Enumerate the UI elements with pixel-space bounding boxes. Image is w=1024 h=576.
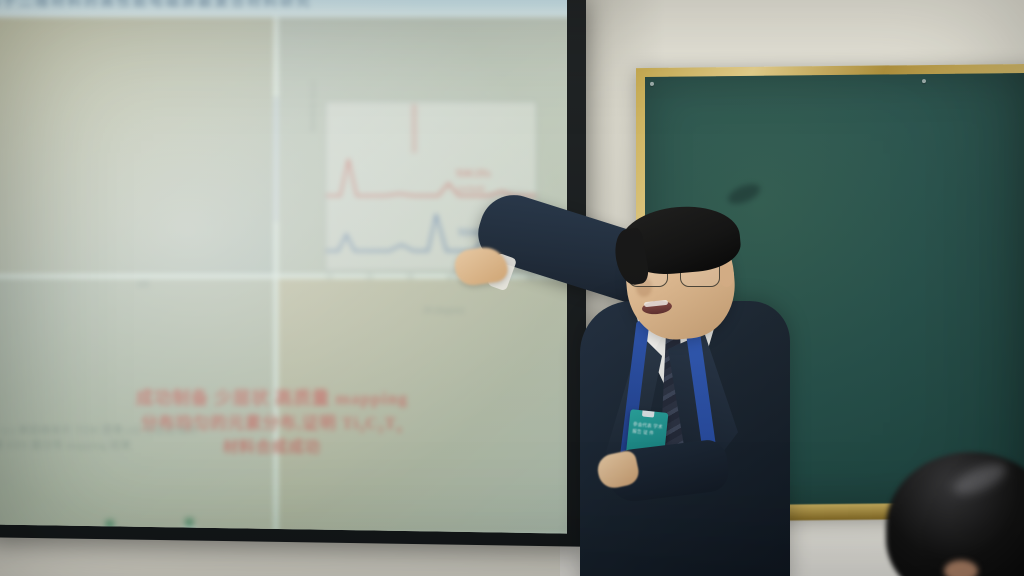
frame-screw — [922, 79, 926, 83]
xrd-xtick: 30 — [406, 272, 414, 284]
eds-map-tile — [0, 17, 273, 274]
formula-t: T — [385, 415, 397, 432]
eds-mapping-panel-d — [0, 17, 113, 143]
conclusion-line-2-text: 分布均匀的元素分布,证明 Ti — [141, 415, 359, 432]
xrd-y-axis-label: Intensity (a.u.) — [307, 81, 317, 132]
badge-text: 参会代表 学术报告 证 件 — [632, 421, 663, 438]
xrd-peak-marker — [412, 104, 417, 153]
xrd-legend-ti3c2tx: Ti3C2Tx — [456, 168, 491, 178]
presenter: 参会代表 学术报告 证 件 — [430, 215, 790, 576]
slide-title-text: 基于二维材料的高性能电磁屏蔽复合材料研究 — [0, 0, 313, 10]
xrd-xtick: 20 — [365, 272, 373, 284]
chalk-smudge — [725, 180, 763, 208]
panel-tag-d: (d) — [137, 278, 149, 288]
xrd-legend-ti3c2tx-sub: (etched) — [458, 185, 485, 194]
formula-c: C — [365, 415, 378, 432]
xrd-xtick: 10 — [325, 272, 333, 284]
audience-ear — [944, 560, 978, 576]
formula-sub-x: x — [397, 424, 403, 435]
frame-screw — [650, 82, 654, 86]
slide-title-bar: 基于二维材料的高性能电磁屏蔽复合材料研究 — [0, 0, 567, 17]
lecture-scene-photo: 基于二维材料的高性能电磁屏蔽复合材料研究 (a) (b) 图1 (a) 材料 S… — [0, 0, 1024, 576]
